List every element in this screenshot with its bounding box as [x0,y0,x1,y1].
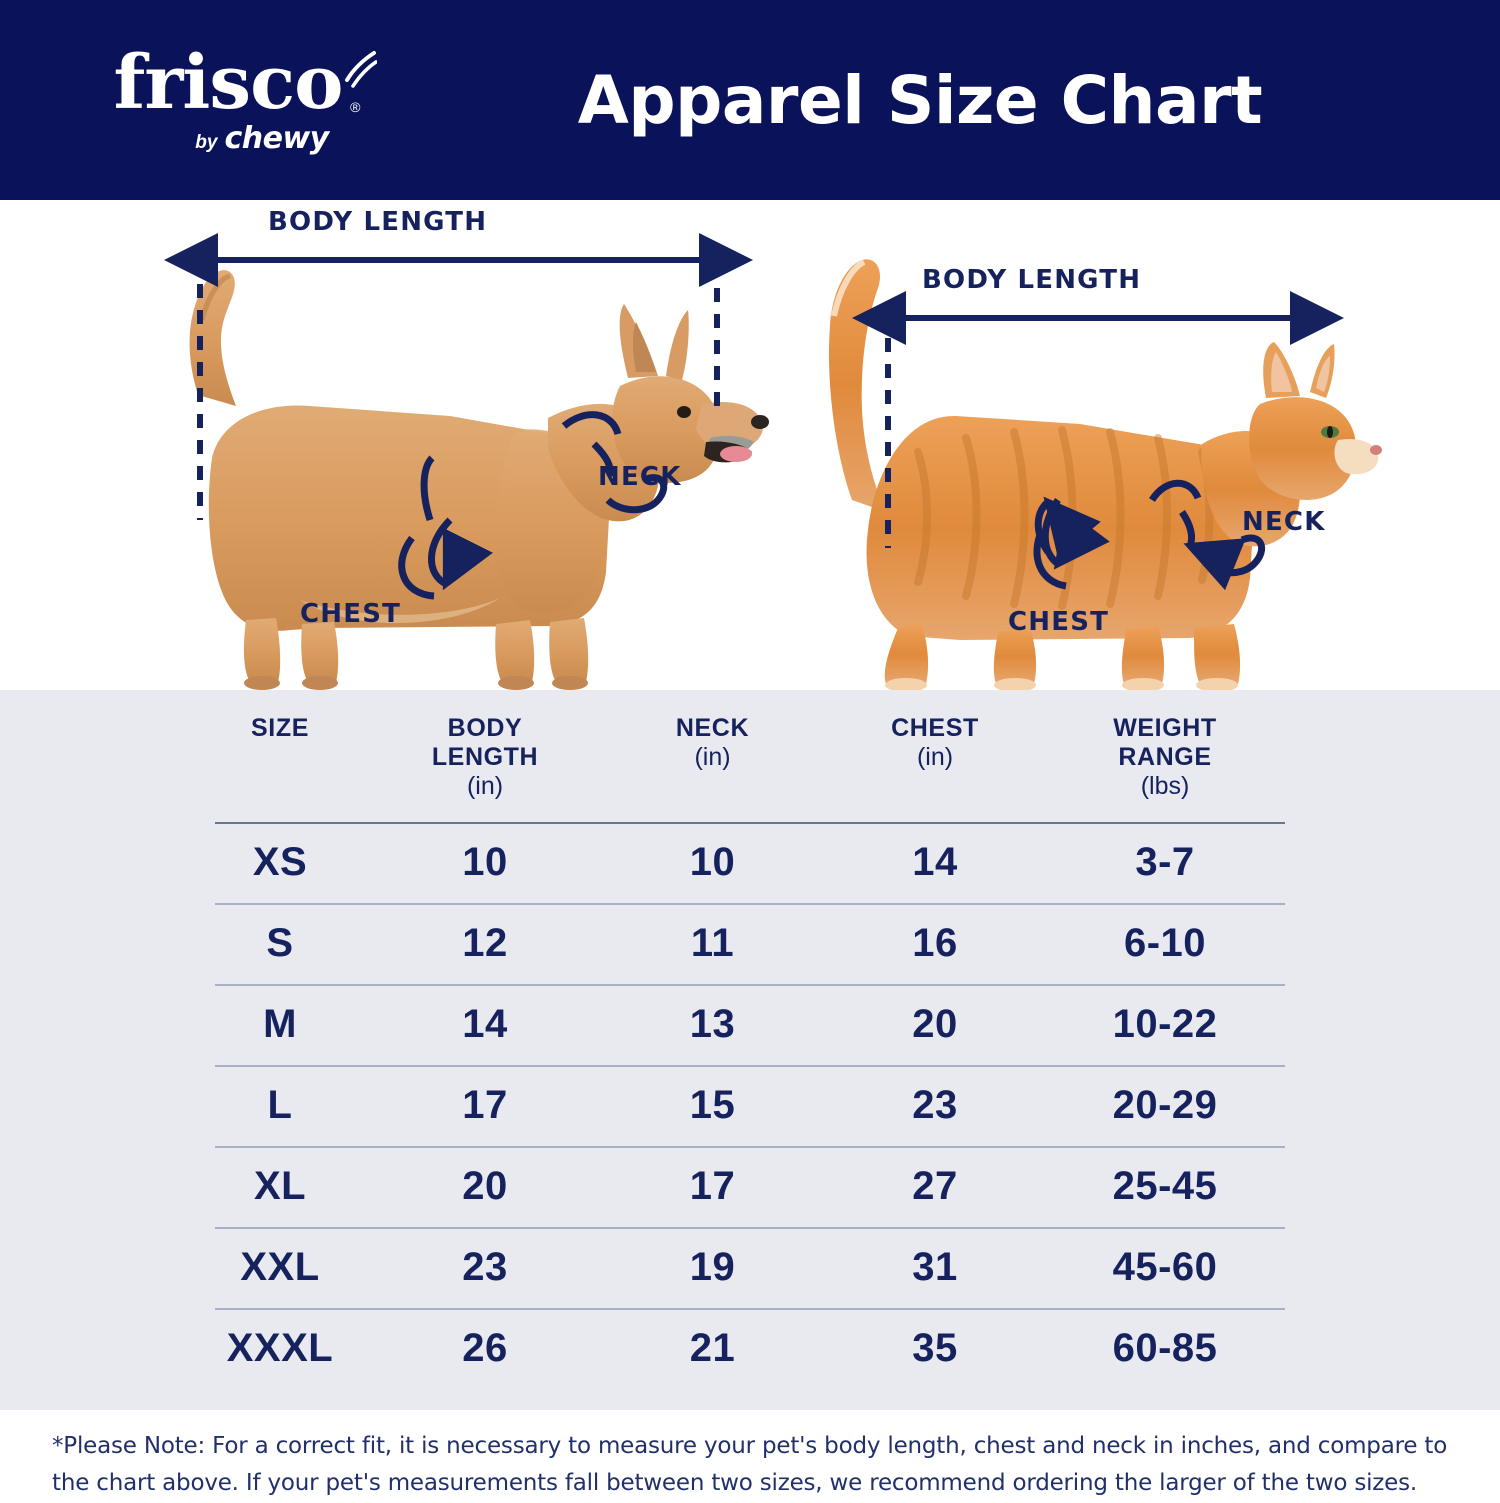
size-table-section: SIZE BODY LENGTH (in) NECK (in) CHEST (i… [0,690,1500,1410]
cell-neck: 19 [600,1245,825,1290]
cell-chest: 16 [825,921,1045,966]
column-header-chest-label: CHEST [891,714,979,742]
table-row: M14132010-22 [0,984,1500,1065]
header-gutter [0,714,190,822]
column-header-body-length: BODY LENGTH (in) [370,714,600,822]
dog-neck-label: NECK [598,462,682,492]
cell-neck: 21 [600,1326,825,1371]
cell-size: XL [190,1164,370,1209]
column-header-body-length-unit: (in) [370,772,600,801]
cell-weight-range: 45-60 [1045,1245,1285,1290]
cell-weight-range: 3-7 [1045,840,1285,885]
chewy-wordmark: chewy [224,121,328,156]
swish-icon [343,50,377,88]
table-row: L17152320-29 [0,1065,1500,1146]
footnote-text: *Please Note: For a correct fit, it is n… [52,1428,1452,1503]
table-row: XS1010143-7 [0,822,1500,903]
column-header-chest: CHEST (in) [825,714,1045,822]
dog-body-length-label: BODY LENGTH [268,207,487,237]
cell-weight-range: 20-29 [1045,1083,1285,1128]
column-header-weight-range-unit: (lbs) [1045,772,1285,801]
dog-chest-label: CHEST [300,599,401,629]
size-chart-page: frisco ® by chewy Apparel Size Chart [0,0,1500,1500]
cell-neck: 10 [600,840,825,885]
column-header-size-label: SIZE [251,714,309,742]
column-header-neck: NECK (in) [600,714,825,822]
cat-chest-label: CHEST [1008,607,1109,637]
cell-size: M [190,1002,370,1047]
column-header-body-length-line1: BODY [448,714,523,742]
cell-size: XXXL [190,1326,370,1371]
cell-weight-range: 10-22 [1045,1002,1285,1047]
registered-trademark-symbol: ® [350,101,359,114]
cell-body-length: 17 [370,1083,600,1128]
cell-weight-range: 25-45 [1045,1164,1285,1209]
cell-neck: 15 [600,1083,825,1128]
cell-chest: 20 [825,1002,1045,1047]
footnote-section: *Please Note: For a correct fit, it is n… [0,1410,1500,1500]
column-header-weight-range-line1: WEIGHT [1113,714,1217,742]
column-header-chest-unit: (in) [825,743,1045,772]
page-header: frisco ® by chewy Apparel Size Chart [0,0,1500,200]
cell-chest: 23 [825,1083,1045,1128]
dog-illustration: BODY LENGTH CHEST NECK [150,200,770,690]
table-row: XXL23193145-60 [0,1227,1500,1308]
cell-body-length: 14 [370,1002,600,1047]
cell-size: S [190,921,370,966]
frisco-by-chewy-logo: frisco ® by chewy [78,42,378,162]
table-row: S1211166-10 [0,903,1500,984]
cell-body-length: 10 [370,840,600,885]
column-header-neck-label: NECK [676,714,749,742]
dog-body-shape [190,270,769,690]
column-header-weight-range: WEIGHT RANGE (lbs) [1045,714,1285,822]
cell-chest: 27 [825,1164,1045,1209]
column-header-weight-range-line2: RANGE [1118,743,1211,771]
size-table: SIZE BODY LENGTH (in) NECK (in) CHEST (i… [0,690,1500,1389]
measurement-illustrations: BODY LENGTH CHEST NECK [0,200,1500,690]
cell-neck: 17 [600,1164,825,1209]
cell-size: L [190,1083,370,1128]
cell-size: XS [190,840,370,885]
cell-chest: 31 [825,1245,1045,1290]
page-title: Apparel Size Chart [420,0,1420,200]
cell-chest: 14 [825,840,1045,885]
cell-weight-range: 6-10 [1045,921,1285,966]
cat-neck-label: NECK [1242,507,1326,537]
brand-by-label: by [195,132,217,154]
brand-wordmark: frisco ® [113,48,342,118]
cell-neck: 13 [600,1002,825,1047]
brand-sublogo: by chewy [195,121,328,156]
cell-body-length: 26 [370,1326,600,1371]
cell-neck: 11 [600,921,825,966]
table-row: XXXL26213560-85 [0,1308,1500,1389]
cell-body-length: 12 [370,921,600,966]
table-body: XS1010143-7S1211166-10M14132010-22L17152… [0,822,1500,1389]
column-header-body-length-line2: LENGTH [432,743,538,771]
cell-body-length: 23 [370,1245,600,1290]
brand-wordmark-text: frisco [113,40,342,126]
column-header-size: SIZE [190,714,370,822]
cell-chest: 35 [825,1326,1045,1371]
cell-body-length: 20 [370,1164,600,1209]
cat-illustration: BODY LENGTH CHEST NECK [790,200,1390,690]
cell-weight-range: 60-85 [1045,1326,1285,1371]
table-row: XL20172725-45 [0,1146,1500,1227]
cell-size: XXL [190,1245,370,1290]
table-header-row: SIZE BODY LENGTH (in) NECK (in) CHEST (i… [0,690,1500,822]
column-header-neck-unit: (in) [600,743,825,772]
cat-body-length-label: BODY LENGTH [922,265,1141,295]
